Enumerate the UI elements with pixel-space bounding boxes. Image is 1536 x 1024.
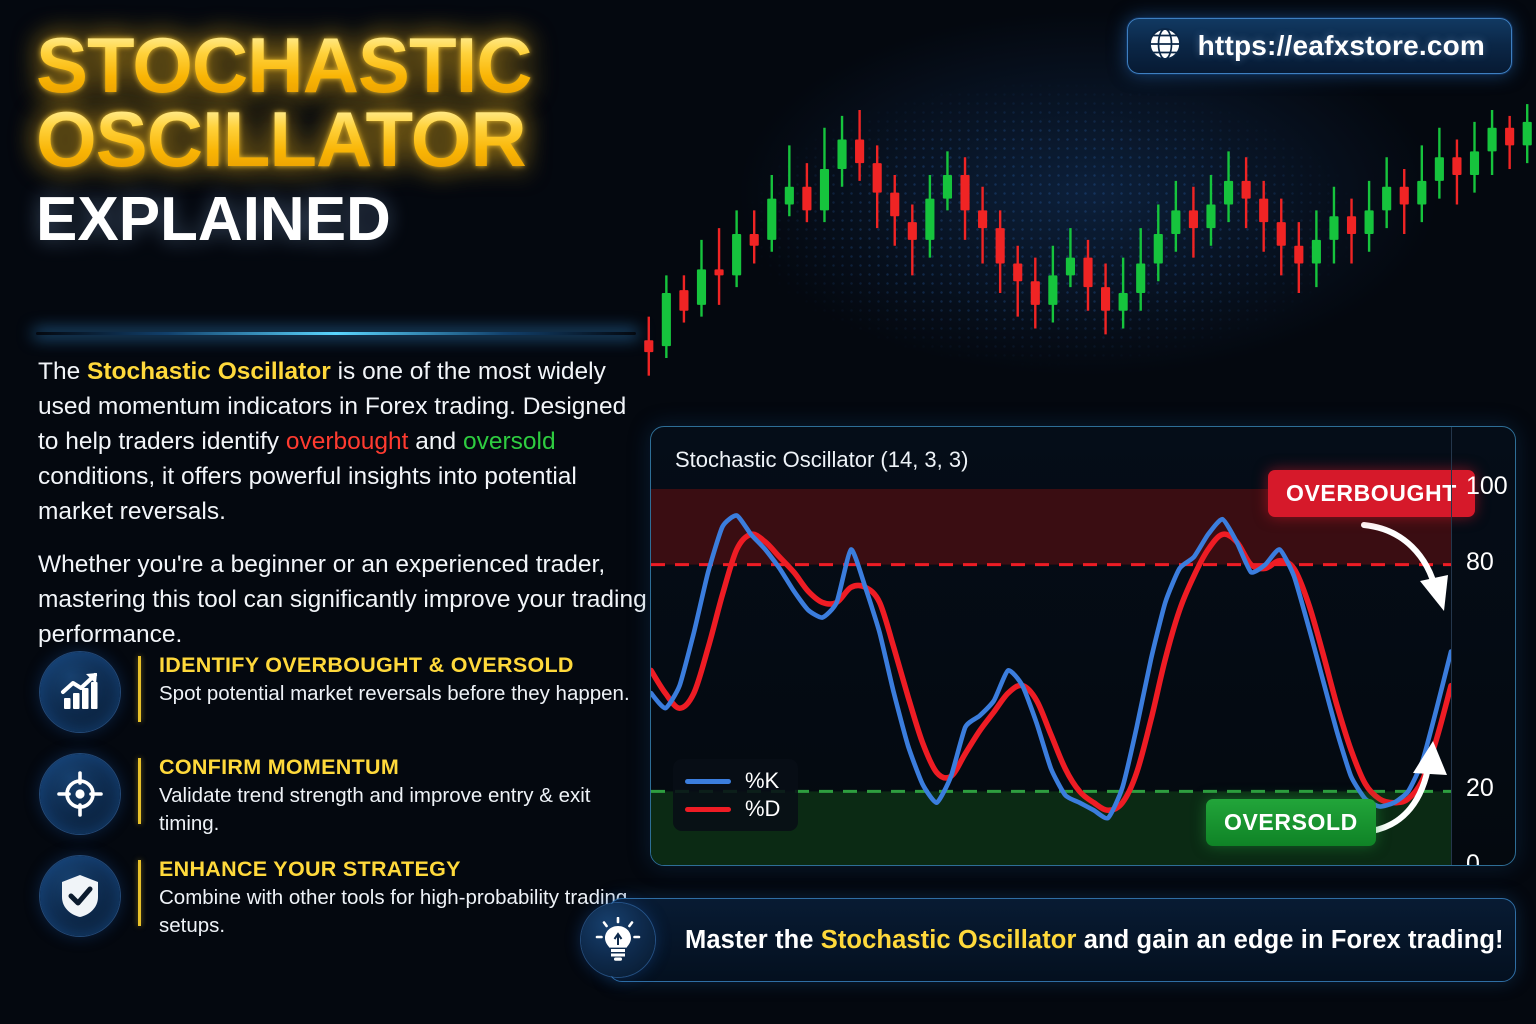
feature-title: IDENTIFY OVERBOUGHT & OVERSOLD (159, 652, 630, 678)
arrow-up-annotation (1365, 727, 1461, 837)
chart-legend: %K %D (673, 759, 798, 831)
intro-p1-c: and (408, 428, 463, 455)
feature-text: ENHANCE YOUR STRATEGY Combine with other… (159, 854, 655, 940)
target-crosshair-icon (40, 754, 120, 834)
headline-block: Stochastic Oscillator Explained (36, 28, 656, 255)
y-axis-tick: 100 (1466, 472, 1508, 501)
chart-title: Stochastic Oscillator (14, 3, 3) (675, 447, 968, 473)
legend-label-d: %D (745, 796, 780, 822)
intro-copy: The Stochastic Oscillator is one of the … (38, 354, 650, 652)
cta-text-a: Master the (685, 926, 821, 954)
feature-desc: Validate trend strength and improve entr… (159, 782, 655, 838)
feature-item-identify: IDENTIFY OVERBOUGHT & OVERSOLD Spot pote… (40, 650, 655, 752)
legend-item-d: %D (685, 795, 780, 823)
overbought-badge: OVERBOUGHT (1268, 470, 1475, 517)
feature-accent-bar (138, 758, 141, 824)
candlestick-chart (640, 55, 1536, 415)
intro-brand: Stochastic Oscillator (87, 358, 331, 385)
intro-oversold: oversold (463, 428, 556, 455)
website-url-text: https://eafxstore.com (1198, 30, 1485, 62)
intro-p1-a: The (38, 358, 87, 385)
feature-accent-bar (138, 860, 141, 926)
cta-brand: Stochastic Oscillator (821, 926, 1077, 954)
cta-text: Master the Stochastic Oscillator and gai… (685, 926, 1504, 955)
headline-line-2: Oscillator (36, 102, 656, 176)
feature-title: CONFIRM MOMENTUM (159, 754, 655, 780)
feature-text: IDENTIFY OVERBOUGHT & OVERSOLD Spot pote… (159, 650, 630, 708)
feature-list: IDENTIFY OVERBOUGHT & OVERSOLD Spot pote… (40, 650, 655, 956)
website-url-badge[interactable]: https://eafxstore.com (1127, 18, 1512, 74)
y-axis-tick: 20 (1466, 774, 1494, 803)
feature-accent-bar (138, 656, 141, 722)
intro-p1-d: conditions, it offers powerful insights … (38, 463, 577, 525)
feature-desc: Combine with other tools for high-probab… (159, 884, 655, 940)
oversold-badge: OVERSOLD (1206, 799, 1376, 846)
feature-desc: Spot potential market reversals before t… (159, 680, 630, 708)
headline-line-1: Stochastic (36, 28, 656, 102)
cta-text-b: and gain an edge in Forex trading! (1077, 926, 1504, 954)
legend-swatch-d (685, 807, 731, 812)
feature-text: CONFIRM MOMENTUM Validate trend strength… (159, 752, 655, 838)
y-axis-tick: 0 (1466, 850, 1480, 866)
y-axis: 10080200 (1451, 427, 1516, 866)
title-divider (36, 332, 636, 335)
cta-banner: Master the Stochastic Oscillator and gai… (608, 898, 1516, 982)
intro-paragraph-2: Whether you're a beginner or an experien… (38, 547, 650, 652)
y-axis-tick: 80 (1466, 548, 1494, 577)
feature-item-momentum: CONFIRM MOMENTUM Validate trend strength… (40, 752, 655, 854)
legend-label-k: %K (745, 768, 779, 794)
lightbulb-icon (581, 903, 655, 977)
intro-paragraph-1: The Stochastic Oscillator is one of the … (38, 354, 650, 529)
feature-item-strategy: ENHANCE YOUR STRATEGY Combine with other… (40, 854, 655, 956)
feature-title: ENHANCE YOUR STRATEGY (159, 856, 655, 882)
globe-icon (1148, 27, 1182, 66)
bar-chart-growth-icon (40, 652, 120, 732)
headline-line-3: Explained (36, 184, 656, 255)
legend-item-k: %K (685, 767, 780, 795)
shield-check-icon (40, 856, 120, 936)
intro-overbought: overbought (286, 428, 409, 455)
arrow-down-annotation (1356, 519, 1466, 629)
stochastic-oscillator-panel: Stochastic Oscillator (14, 3, 3) OVERBOU… (650, 426, 1516, 866)
legend-swatch-k (685, 779, 731, 784)
